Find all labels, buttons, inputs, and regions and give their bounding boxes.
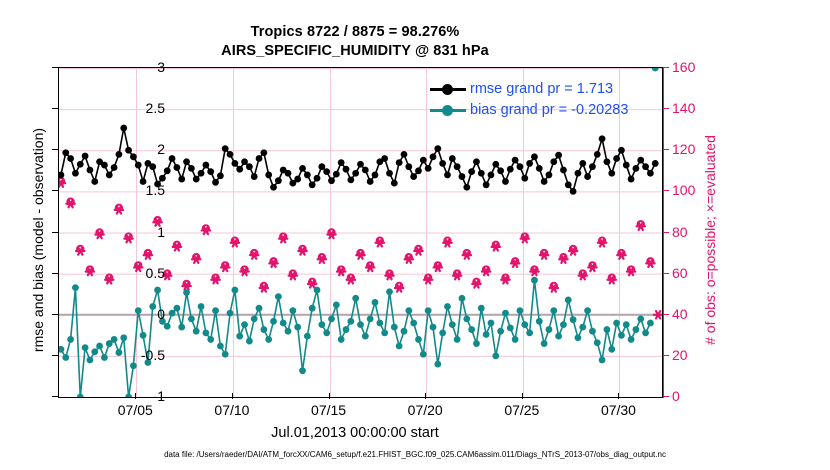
- rmse-point: [202, 162, 209, 169]
- y-axis-left-tick-label: 1.5: [119, 182, 165, 198]
- rmse-point: [120, 125, 127, 132]
- rmse-point: [285, 170, 292, 177]
- rmse-point: [338, 159, 345, 166]
- bias-point: [202, 329, 209, 336]
- y-axis-right-tick-label: 60: [672, 265, 712, 281]
- x-axis-tick-label: 07/25: [487, 402, 557, 418]
- rmse-point: [647, 170, 654, 177]
- bias-point: [338, 336, 345, 343]
- bias-point: [579, 324, 586, 331]
- bias-point: [391, 324, 398, 331]
- bias-point: [652, 68, 659, 71]
- rmse-point: [236, 166, 243, 173]
- x-axis-tick-label: 07/20: [390, 402, 460, 418]
- rmse-point: [550, 158, 557, 165]
- rmse-point: [304, 172, 311, 179]
- rmse-point: [608, 170, 615, 177]
- rmse-point: [502, 178, 509, 185]
- bias-point: [120, 334, 127, 341]
- bias-point: [637, 315, 644, 322]
- rmse-point: [372, 172, 379, 179]
- bias-point: [111, 336, 118, 343]
- y-axis-right-tick-mark: [663, 355, 669, 356]
- rmse-point: [91, 178, 98, 185]
- y-axis-right-tick-label: 0: [672, 388, 712, 404]
- bias-point: [541, 340, 548, 347]
- rmse-point: [87, 167, 94, 174]
- rmse-point: [473, 158, 480, 165]
- rmse-point: [396, 159, 403, 166]
- bias-point: [357, 321, 364, 328]
- y-axis-left-tick-mark: [52, 67, 58, 68]
- bias-point: [212, 307, 219, 314]
- rmse-point: [613, 155, 620, 162]
- bias-point: [193, 328, 200, 335]
- bias-point: [483, 331, 490, 338]
- bias-point: [154, 287, 161, 294]
- rmse-point: [642, 163, 649, 170]
- x-axis-label: Jul.01,2013 00:00:00 start: [0, 425, 710, 441]
- y-axis-left-tick-mark: [52, 355, 58, 356]
- bias-point: [604, 326, 611, 333]
- bias-point: [589, 328, 596, 335]
- bias-point: [405, 307, 412, 314]
- y-axis-left-tick-label: 0: [119, 306, 165, 322]
- y-axis-left-tick-mark: [52, 314, 58, 315]
- rmse-point: [468, 168, 475, 175]
- bias-point: [454, 336, 461, 343]
- bias-point: [227, 310, 234, 317]
- bias-point: [594, 339, 601, 346]
- rmse-point: [492, 161, 499, 168]
- rmse-point: [362, 167, 369, 174]
- bias-point: [289, 307, 296, 314]
- y-axis-right-tick-mark: [663, 314, 669, 315]
- y-axis-right-tick-label: 120: [672, 141, 712, 157]
- bias-point: [304, 333, 311, 340]
- rmse-point: [246, 163, 253, 170]
- bias-point: [463, 315, 470, 322]
- bias-point: [328, 315, 335, 322]
- bias-point: [410, 320, 417, 327]
- bias-point: [347, 318, 354, 325]
- bias-point: [77, 394, 84, 397]
- rmse-point: [391, 180, 398, 187]
- y-axis-right-tick-label: 80: [672, 224, 712, 240]
- y-axis-right-tick-mark: [663, 67, 669, 68]
- rmse-point: [260, 149, 267, 156]
- rmse-point: [449, 155, 456, 162]
- legend-label-bias: bias grand pr = -0.20283: [470, 102, 628, 118]
- bias-point: [183, 289, 190, 296]
- bias-point: [415, 336, 422, 343]
- bias-point: [62, 354, 69, 361]
- bias-point: [459, 295, 466, 302]
- rmse-point: [318, 163, 325, 170]
- bias-point: [67, 336, 74, 343]
- rmse-point: [149, 163, 156, 170]
- rmse-point: [637, 157, 644, 164]
- legend-entry-bias: bias grand pr = -0.20283: [430, 102, 628, 118]
- bias-point: [333, 301, 340, 308]
- bias-point: [285, 328, 292, 335]
- bias-point: [531, 277, 538, 284]
- bias-point: [444, 303, 451, 310]
- y-axis-right-tick-mark: [663, 232, 669, 233]
- rmse-point: [430, 153, 437, 160]
- bias-point: [381, 329, 388, 336]
- rmse-point: [526, 160, 533, 167]
- rmse-point: [106, 172, 113, 179]
- bias-point: [260, 326, 267, 333]
- bias-point: [570, 316, 577, 323]
- bias-point: [565, 297, 572, 304]
- legend-line-rmse: [430, 88, 466, 91]
- bias-point: [478, 305, 485, 312]
- bias-point: [608, 346, 615, 353]
- legend-line-bias: [430, 109, 466, 112]
- bias-point: [96, 343, 103, 350]
- rmse-point: [628, 176, 635, 183]
- rmse-point: [575, 170, 582, 177]
- rmse-point: [599, 135, 606, 142]
- rmse-point: [169, 155, 176, 162]
- bias-point: [512, 336, 519, 343]
- rmse-point: [405, 163, 412, 170]
- x-axis-tick-mark: [329, 393, 330, 399]
- bias-point: [492, 352, 499, 359]
- bias-point: [560, 321, 567, 328]
- rmse-point: [173, 164, 180, 171]
- bias-point: [251, 315, 258, 322]
- rmse-point: [555, 152, 562, 159]
- legend-entry-rmse: rmse grand pr = 1.713: [430, 81, 613, 97]
- rmse-point: [82, 153, 89, 160]
- bias-point: [546, 326, 553, 333]
- bias-point: [178, 324, 185, 331]
- bias-point: [188, 315, 195, 322]
- bias-point: [343, 326, 350, 333]
- bias-point: [647, 320, 654, 327]
- y-axis-left-tick-mark: [52, 190, 58, 191]
- rmse-point: [251, 173, 258, 180]
- rmse-point: [198, 170, 205, 177]
- rmse-point: [207, 168, 214, 175]
- rmse-point: [512, 157, 519, 164]
- bias-point: [425, 307, 432, 314]
- bias-point: [575, 334, 582, 341]
- y-axis-right-tick-mark: [663, 396, 669, 397]
- rmse-point: [604, 158, 611, 165]
- x-axis-tick-label: 07/30: [583, 402, 653, 418]
- x-axis-tick-label: 07/05: [100, 402, 170, 418]
- rmse-point: [222, 145, 229, 152]
- rmse-point: [434, 145, 441, 152]
- rmse-point: [212, 179, 219, 186]
- bias-point: [376, 320, 383, 327]
- bias-point: [275, 293, 282, 300]
- rmse-point: [323, 168, 330, 175]
- bias-point: [318, 321, 325, 328]
- bias-point: [91, 348, 98, 355]
- rmse-point: [594, 151, 601, 158]
- chart-title-line1: Tropics 8722 / 8875 = 98.276%: [0, 24, 710, 40]
- bias-point: [439, 329, 446, 336]
- y-axis-left-tick-mark: [52, 396, 58, 397]
- bias-point: [270, 318, 277, 325]
- bias-point: [362, 333, 369, 340]
- bias-point: [169, 310, 176, 317]
- x-axis-tick-mark: [618, 393, 619, 399]
- rmse-point: [309, 181, 316, 188]
- rmse-point: [183, 158, 190, 165]
- bias-point: [207, 336, 214, 343]
- rmse-point: [415, 167, 422, 174]
- rmse-point: [241, 158, 248, 165]
- y-axis-left-tick-mark: [52, 232, 58, 233]
- y-axis-right-tick-label: 40: [672, 306, 712, 322]
- rmse-point: [231, 160, 238, 167]
- bias-point: [642, 329, 649, 336]
- rmse-point: [72, 170, 79, 177]
- rmse-point: [536, 165, 543, 172]
- rmse-point: [217, 172, 224, 179]
- bias-point: [265, 336, 272, 343]
- bias-point: [309, 305, 316, 312]
- rmse-point: [517, 163, 524, 170]
- rmse-point: [497, 167, 504, 174]
- rmse-point: [381, 155, 388, 162]
- y-axis-left-tick-label: 2: [119, 141, 165, 157]
- x-axis-tick-label: 07/10: [197, 402, 267, 418]
- bias-point: [468, 326, 475, 333]
- bias-point: [521, 321, 528, 328]
- rmse-point: [420, 157, 427, 164]
- rmse-point: [579, 160, 586, 167]
- rmse-point: [483, 181, 490, 188]
- bias-point: [473, 340, 480, 347]
- rmse-point: [270, 184, 277, 191]
- rmse-point: [357, 161, 364, 168]
- bias-point: [401, 328, 408, 335]
- rmse-point: [367, 178, 374, 185]
- rmse-point: [478, 170, 485, 177]
- bias-point: [314, 287, 321, 294]
- rmse-point: [565, 181, 572, 188]
- y-axis-left-tick-label: 1: [119, 224, 165, 240]
- bias-point: [59, 346, 64, 353]
- bias-point: [241, 321, 248, 328]
- rmse-point: [111, 164, 118, 171]
- bias-point: [294, 324, 301, 331]
- rmse-point: [347, 176, 354, 183]
- rmse-point: [463, 184, 470, 191]
- rmse-point: [589, 163, 596, 170]
- rmse-point: [507, 166, 514, 173]
- bias-point: [618, 332, 625, 339]
- rmse-point: [521, 175, 528, 182]
- bias-point: [497, 328, 504, 335]
- bias-point: [246, 338, 253, 345]
- bias-point: [633, 326, 640, 333]
- y-axis-left-tick-mark: [52, 149, 58, 150]
- bias-point: [372, 299, 379, 306]
- bias-point: [517, 307, 524, 314]
- rmse-point: [623, 162, 630, 169]
- bias-point: [502, 310, 509, 317]
- bias-point: [164, 323, 171, 330]
- rmse-point: [560, 167, 567, 174]
- rmse-point: [531, 153, 538, 160]
- rmse-point: [618, 147, 625, 154]
- bias-point: [584, 307, 591, 314]
- bias-point: [82, 344, 89, 351]
- rmse-point: [62, 149, 69, 156]
- y-axis-right-tick-label: 100: [672, 182, 712, 198]
- rmse-point: [386, 170, 393, 177]
- rmse-point: [352, 170, 359, 177]
- bias-point: [550, 307, 557, 314]
- bias-point: [420, 351, 427, 358]
- bias-point: [449, 321, 456, 328]
- rmse-point: [444, 172, 451, 179]
- bias-point: [507, 325, 514, 332]
- rmse-point: [294, 176, 301, 183]
- y-axis-right-tick-label: 140: [672, 100, 712, 116]
- rmse-point: [584, 173, 591, 180]
- bias-point: [434, 361, 441, 368]
- rmse-point: [77, 161, 84, 168]
- rmse-point: [256, 155, 263, 162]
- bias-point: [217, 343, 224, 350]
- bias-point: [231, 287, 238, 294]
- bias-point: [367, 315, 374, 322]
- bias-point: [280, 320, 287, 327]
- y-axis-left-tick-label: -0.5: [119, 347, 165, 363]
- x-axis-tick-mark: [232, 393, 233, 399]
- x-axis-tick-label: 07/15: [294, 402, 364, 418]
- rmse-point: [333, 171, 340, 178]
- bias-point: [72, 284, 79, 291]
- rmse-point: [227, 151, 234, 158]
- y-axis-right-tick-mark: [663, 273, 669, 274]
- rmse-point: [164, 167, 171, 174]
- rmse-point: [159, 175, 166, 182]
- rmse-point: [299, 165, 306, 172]
- y-axis-right-tick-label: 160: [672, 59, 712, 75]
- bias-point: [256, 305, 263, 312]
- bias-point: [623, 321, 630, 328]
- bias-point: [198, 303, 205, 310]
- rmse-point: [410, 173, 417, 180]
- x-axis-tick-mark: [522, 393, 523, 399]
- rmse-point: [633, 165, 640, 172]
- x-axis-tick-mark: [425, 393, 426, 399]
- chart-title-line2: AIRS_SPECIFIC_HUMIDITY @ 831 hPa: [0, 43, 710, 59]
- bias-point: [173, 305, 180, 312]
- bias-point: [526, 329, 533, 336]
- bias-point: [555, 333, 562, 340]
- bias-point: [140, 332, 147, 339]
- x-axis-tick-mark: [135, 393, 136, 399]
- bias-point: [236, 333, 243, 340]
- rmse-point: [328, 177, 335, 184]
- rmse-point: [135, 162, 142, 169]
- bias-point: [599, 357, 606, 364]
- rmse-point: [178, 176, 185, 183]
- bias-point: [323, 329, 330, 336]
- rmse-point: [459, 173, 466, 180]
- y-axis-left-tick-label: 2.5: [119, 100, 165, 116]
- rmse-point: [188, 165, 195, 172]
- data-file-caption: data file: /Users/raeder/DAI/ATM_forcXX/…: [0, 450, 830, 459]
- bias-point: [613, 320, 620, 327]
- y-axis-left-tick-label: 0.5: [119, 265, 165, 281]
- rmse-point: [570, 188, 577, 195]
- rmse-point: [265, 172, 272, 179]
- rmse-point: [541, 178, 548, 185]
- y-axis-right-tick-mark: [663, 190, 669, 191]
- bias-point: [299, 367, 306, 374]
- rmse-point: [193, 176, 200, 183]
- bias-point: [628, 336, 635, 343]
- rmse-point: [425, 165, 432, 172]
- bias-point: [222, 351, 229, 358]
- bias-point: [87, 357, 94, 364]
- chart-figure: Tropics 8722 / 8875 = 98.276% AIRS_SPECI…: [0, 0, 830, 470]
- bias-point: [396, 343, 403, 350]
- y-axis-left-label: rmse and bias (model - observation): [30, 90, 46, 390]
- rmse-point: [59, 172, 64, 179]
- bias-point: [386, 288, 393, 295]
- rmse-point: [67, 155, 74, 162]
- rmse-point: [546, 172, 553, 179]
- bias-point: [536, 318, 543, 325]
- legend-label-rmse: rmse grand pr = 1.713: [470, 81, 613, 97]
- rmse-point: [101, 162, 108, 169]
- bias-point: [430, 324, 437, 331]
- y-axis-right-tick-mark: [663, 149, 669, 150]
- y-axis-left-tick-mark: [52, 108, 58, 109]
- rmse-point: [488, 172, 495, 179]
- rmse-point: [314, 175, 321, 182]
- rmse-point: [343, 166, 350, 173]
- rmse-point: [439, 160, 446, 167]
- bias-point: [488, 320, 495, 327]
- rmse-point: [454, 163, 461, 170]
- y-axis-right-label: # of obs: o=possible; ×=evaluated: [702, 90, 718, 390]
- rmse-point: [652, 160, 659, 167]
- y-axis-right-tick-mark: [663, 108, 669, 109]
- y-axis-left-tick-mark: [52, 273, 58, 274]
- y-axis-left-tick-label: 3: [119, 59, 165, 75]
- bias-point: [101, 354, 108, 361]
- bias-point: [130, 362, 137, 369]
- rmse-point: [401, 151, 408, 158]
- bias-point: [352, 295, 359, 302]
- rmse-point: [275, 177, 282, 184]
- y-axis-right-tick-label: 20: [672, 347, 712, 363]
